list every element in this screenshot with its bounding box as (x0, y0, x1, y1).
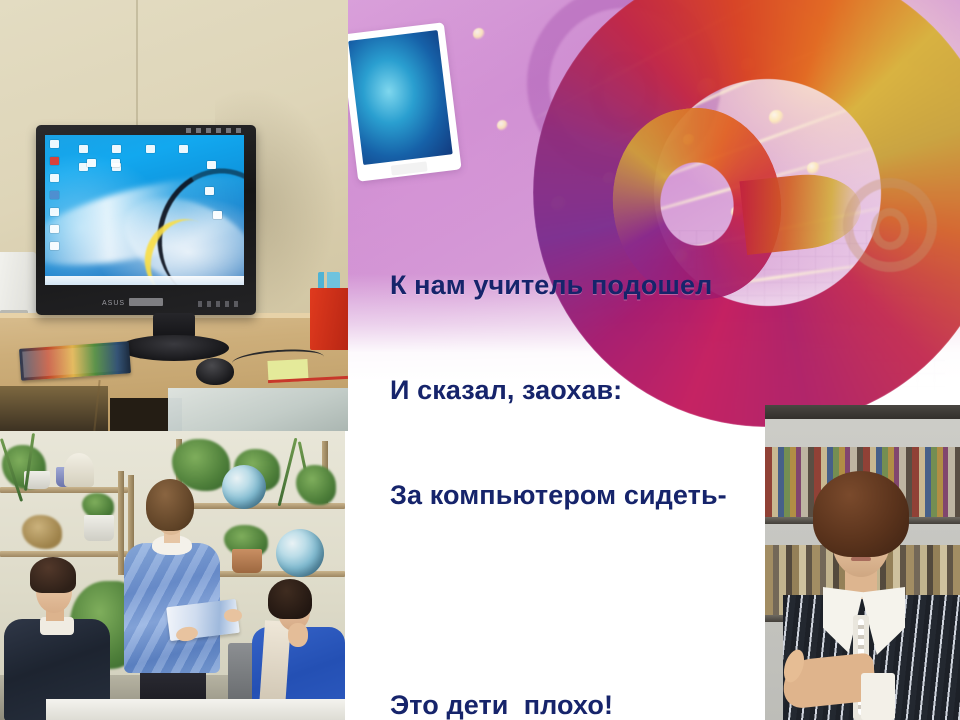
standing-woman-hair (146, 479, 194, 531)
monitor-brand-logo: ASUS (102, 300, 125, 307)
flower-pot (232, 549, 262, 573)
photo-classroom (0, 431, 345, 720)
monitor-power-button (129, 298, 163, 306)
flower-pot (84, 515, 114, 541)
poem-line: К нам учитель подошел (390, 268, 860, 303)
globe (276, 529, 324, 577)
slide-canvas: ASUS (0, 0, 960, 720)
desktop-icon (205, 187, 214, 195)
computer-mouse (196, 358, 234, 385)
desktop-icon (50, 208, 59, 216)
poem-line: Это дети плохо! (390, 688, 860, 720)
standing-woman-hand-right (224, 609, 242, 622)
desktop-icon (50, 191, 59, 199)
decorative-jar (64, 453, 94, 487)
poem-text-block: К нам учитель подошел И сказал, заохав: … (390, 198, 860, 720)
poem-line: За компьютером сидеть- (390, 478, 860, 513)
desktop-icon (213, 211, 222, 219)
decorative-monitor-stand (391, 161, 428, 175)
shelf-post (118, 471, 124, 575)
desktop-icon-row (79, 140, 236, 176)
decorative-monitor-screen (348, 30, 453, 165)
desktop-icon (50, 140, 59, 148)
monitor-screen (45, 135, 244, 285)
desktop-icon (50, 174, 59, 182)
desktop-icon (146, 145, 155, 153)
desktop-icon (112, 145, 121, 153)
woman-hair (268, 579, 312, 619)
desktop-icon (111, 159, 120, 167)
classroom-table (46, 699, 345, 720)
desktop-icon (87, 159, 96, 167)
desktop-icon (179, 145, 188, 153)
globe (222, 465, 266, 509)
desktop-icon (50, 157, 59, 165)
desktop-icon (50, 242, 59, 250)
desktop-icon (207, 161, 216, 169)
monitor-osd-buttons (198, 301, 242, 307)
poem-line-blank (390, 583, 860, 618)
woman-hand (288, 623, 308, 647)
poem-line: И сказал, заохав: (390, 373, 860, 408)
windows-taskbar (45, 276, 244, 285)
photo-workstation: ASUS (0, 0, 348, 431)
portrait-sleeve-cuff (861, 673, 895, 720)
man-hair (30, 557, 76, 593)
glass-table-top (168, 388, 348, 431)
wall-shelf (205, 571, 345, 577)
decorative-monitor-graphic (345, 22, 462, 182)
desk-shadow-left (0, 386, 108, 431)
red-pen-holder (310, 288, 348, 350)
monitor-top-label (186, 128, 244, 133)
desktop-icon (50, 225, 59, 233)
desktop-icon-column (50, 140, 66, 259)
wall-shelf (0, 551, 128, 557)
lcd-monitor: ASUS (36, 125, 256, 315)
desktop-icon (79, 145, 88, 153)
